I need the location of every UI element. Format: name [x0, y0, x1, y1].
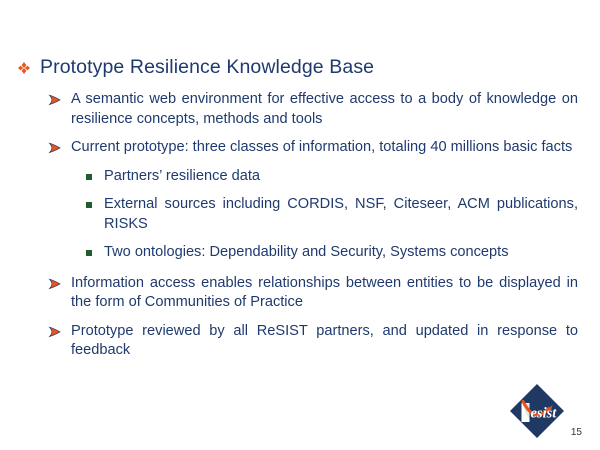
- list-item-text: External sources including CORDIS, NSF, …: [104, 195, 578, 234]
- slide-title-row: Prototype Resilience Knowledge Base: [16, 56, 580, 78]
- list-item: Current prototype: three classes of info…: [0, 138, 600, 158]
- square-bullet-icon: [86, 195, 98, 208]
- arrow-bullet-icon: [48, 274, 66, 290]
- slide-footer: esist 15: [508, 382, 584, 442]
- list-item: Information access enables relationships…: [0, 274, 600, 313]
- list-item: Partners’ resilience data: [0, 167, 600, 187]
- list-item-text: A semantic web environment for effective…: [71, 90, 578, 129]
- list-item-text: Current prototype: three classes of info…: [71, 138, 578, 158]
- arrow-bullet-icon: [48, 138, 66, 154]
- list-item: Prototype reviewed by all ReSIST partner…: [0, 322, 600, 361]
- arrow-bullet-icon: [48, 322, 66, 338]
- list-item: External sources including CORDIS, NSF, …: [0, 195, 600, 234]
- list-item: Two ontologies: Dependability and Securi…: [0, 243, 600, 263]
- square-bullet-icon: [86, 243, 98, 256]
- diamond-petal-bullet-icon: [16, 61, 32, 75]
- list-item-text: Partners’ resilience data: [104, 167, 578, 187]
- bullet-list: A semantic web environment for effective…: [0, 90, 600, 367]
- arrow-bullet-icon: [48, 90, 66, 106]
- list-item-text: Two ontologies: Dependability and Securi…: [104, 243, 578, 263]
- slide-number: 15: [571, 427, 582, 438]
- svg-text:esist: esist: [531, 406, 558, 422]
- slide-canvas: Prototype Resilience Knowledge Base A se…: [0, 0, 600, 450]
- page-title: Prototype Resilience Knowledge Base: [40, 56, 374, 78]
- list-item: A semantic web environment for effective…: [0, 90, 600, 129]
- resist-logo: esist: [508, 382, 566, 440]
- list-item-text: Information access enables relationships…: [71, 274, 578, 313]
- list-item-text: Prototype reviewed by all ReSIST partner…: [71, 322, 578, 361]
- square-bullet-icon: [86, 167, 98, 180]
